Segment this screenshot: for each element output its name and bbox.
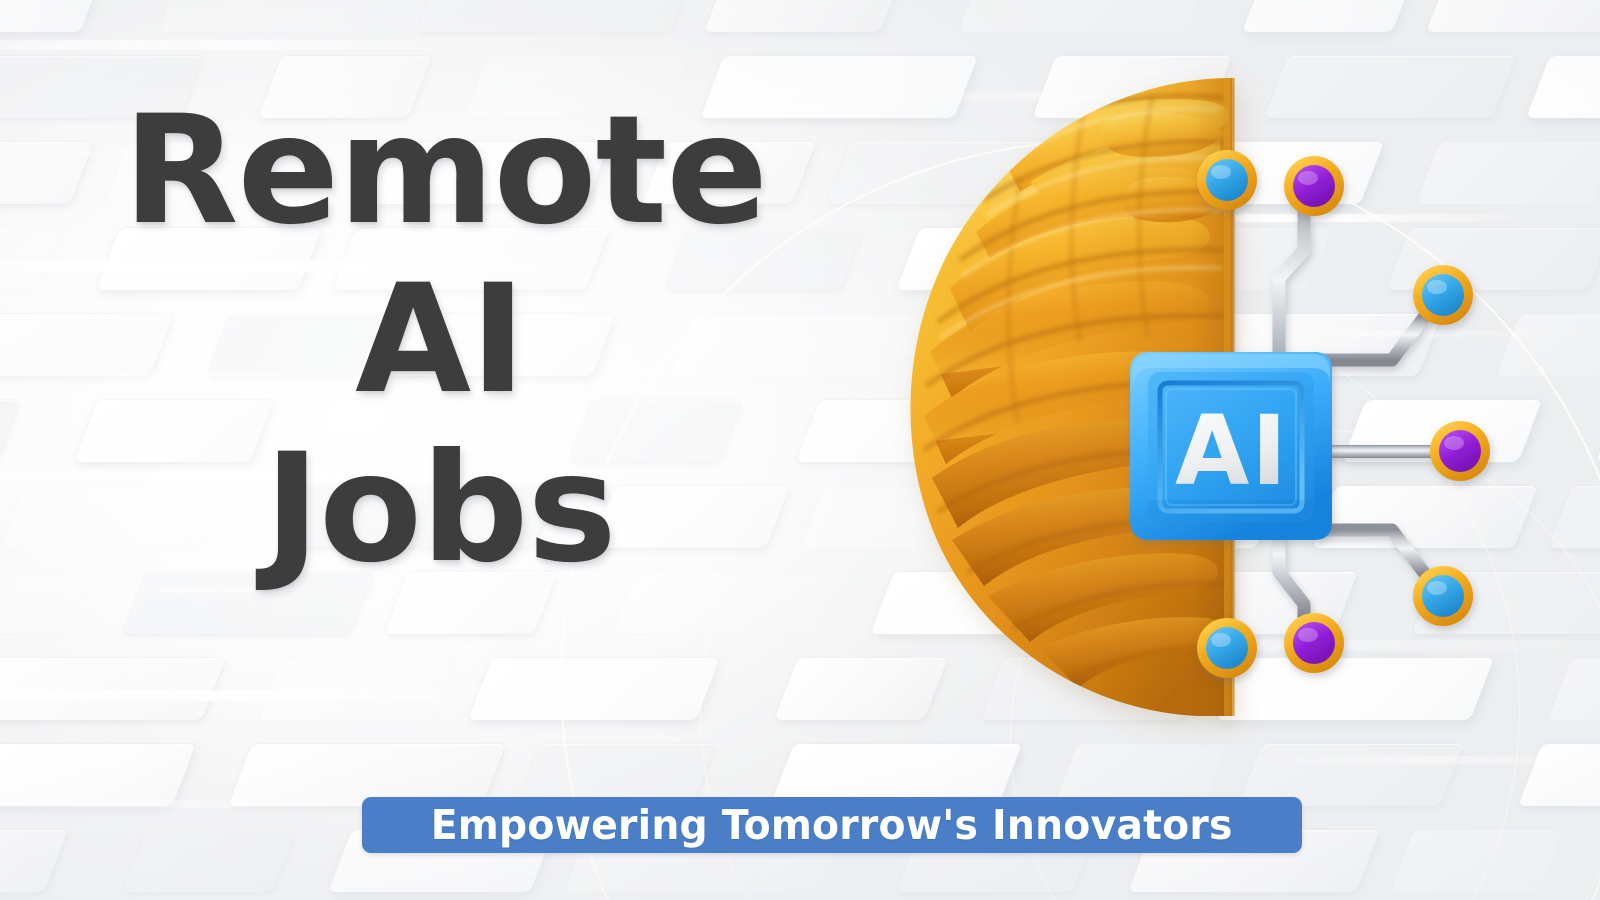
node-top-left	[1197, 150, 1257, 210]
background-tile	[1548, 486, 1600, 548]
background-tile	[0, 0, 104, 32]
tagline-banner: Empowering Tomorrow's Innovators	[362, 797, 1302, 853]
node-right-upper	[1413, 265, 1473, 325]
background-tile	[1242, 0, 1416, 32]
chip-label: AI	[1175, 395, 1289, 507]
node-bottom-right	[1284, 613, 1344, 673]
trace-right-upper	[1320, 316, 1425, 360]
background-tile	[958, 0, 1210, 32]
ai-chip: AI	[1130, 352, 1332, 540]
background-tile	[704, 0, 904, 32]
trace-right-lower	[1320, 530, 1425, 574]
background-tile	[1548, 658, 1600, 720]
background-streak	[1238, 756, 1600, 764]
background-streak	[0, 40, 482, 50]
background-tile	[122, 830, 296, 892]
background-tile	[1596, 400, 1600, 462]
trace-right-middle	[1320, 445, 1448, 458]
page-title: Remote AI Jobs	[0, 92, 880, 589]
background-tile	[0, 830, 68, 892]
background-tile	[1426, 0, 1600, 32]
background-tile	[416, 0, 694, 32]
node-bottom-left	[1197, 618, 1257, 678]
background-tile	[1390, 830, 1564, 892]
node-right-middle	[1430, 421, 1490, 481]
ai-brain-chip-illustration: AI	[880, 60, 1520, 750]
node-top-right	[1284, 156, 1344, 216]
background-tile	[0, 658, 226, 720]
tagline-text: Empowering Tomorrow's Innovators	[431, 801, 1233, 849]
background-tile	[1526, 56, 1600, 118]
background-tile	[258, 658, 458, 720]
background-streak	[0, 690, 512, 701]
background-tile	[158, 0, 384, 32]
headline-line-jobs: Jobs	[0, 430, 880, 589]
background-tile	[468, 658, 720, 720]
poster-canvas: Remote AI Jobs	[0, 0, 1600, 900]
background-tile	[0, 744, 196, 806]
headline-line-remote: Remote	[0, 92, 880, 251]
background-tile	[1518, 744, 1600, 806]
headline-line-ai: AI	[0, 261, 880, 420]
node-right-lower	[1413, 566, 1473, 626]
